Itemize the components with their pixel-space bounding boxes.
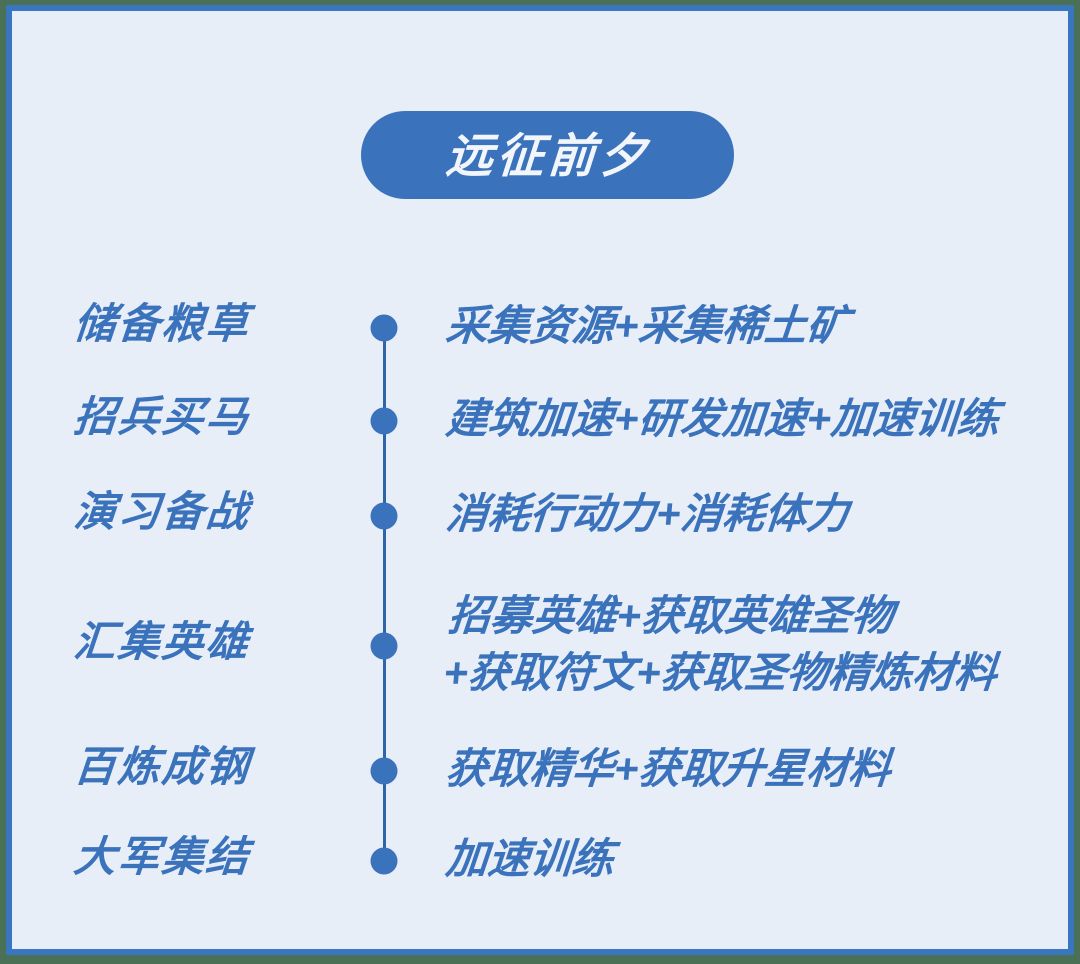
timeline-dot xyxy=(371,633,398,660)
timeline-stage-label: 汇集英雄 xyxy=(10,620,314,664)
timeline-dot xyxy=(371,315,398,342)
timeline-dot xyxy=(371,848,398,875)
timeline-dot xyxy=(371,408,398,435)
timeline-stage-label: 招兵买马 xyxy=(10,395,314,439)
timeline-stage-content: 加速训练 xyxy=(444,831,617,888)
timeline-stage-content-line: 消耗行动力+消耗体力 xyxy=(444,486,851,543)
timeline-stage-content-line: 招募英雄+获取英雄圣物 xyxy=(446,588,1004,645)
timeline-stage-content: 建筑加速+研发加速+加速训练 xyxy=(444,391,1002,448)
timeline-stage-label: 大军集结 xyxy=(10,835,314,879)
timeline-stage-content: 获取精华+获取升星材料 xyxy=(444,741,893,798)
timeline-stage-content: 招募英雄+获取英雄圣物+获取符文+获取圣物精炼材料 xyxy=(441,588,1004,701)
timeline-stage-content-line: +获取符文+获取圣物精炼材料 xyxy=(441,645,999,702)
timeline-stage-content-line: 采集资源+采集稀土矿 xyxy=(444,298,851,355)
timeline-stage-label: 演习备战 xyxy=(10,490,314,534)
timeline-stage-content: 采集资源+采集稀土矿 xyxy=(444,298,851,355)
poster-canvas: 远征前夕 储备粮草采集资源+采集稀土矿招兵买马建筑加速+研发加速+加速训练演习备… xyxy=(12,11,1068,949)
poster-title-banner: 远征前夕 xyxy=(361,111,734,199)
timeline-stage-label: 百炼成钢 xyxy=(10,745,314,789)
timeline-stage-content: 消耗行动力+消耗体力 xyxy=(444,486,851,543)
page-title: 远征前夕 xyxy=(444,132,651,179)
timeline-stage-content-line: 建筑加速+研发加速+加速训练 xyxy=(444,391,1002,448)
timeline-dot xyxy=(371,758,398,785)
timeline-dot xyxy=(371,503,398,530)
timeline-stage-label: 储备粮草 xyxy=(10,302,314,346)
timeline-stage-content-line: 获取精华+获取升星材料 xyxy=(444,741,893,798)
timeline-stage-content-line: 加速训练 xyxy=(444,831,617,888)
poster-frame: 远征前夕 储备粮草采集资源+采集稀土矿招兵买马建筑加速+研发加速+加速训练演习备… xyxy=(6,5,1074,955)
